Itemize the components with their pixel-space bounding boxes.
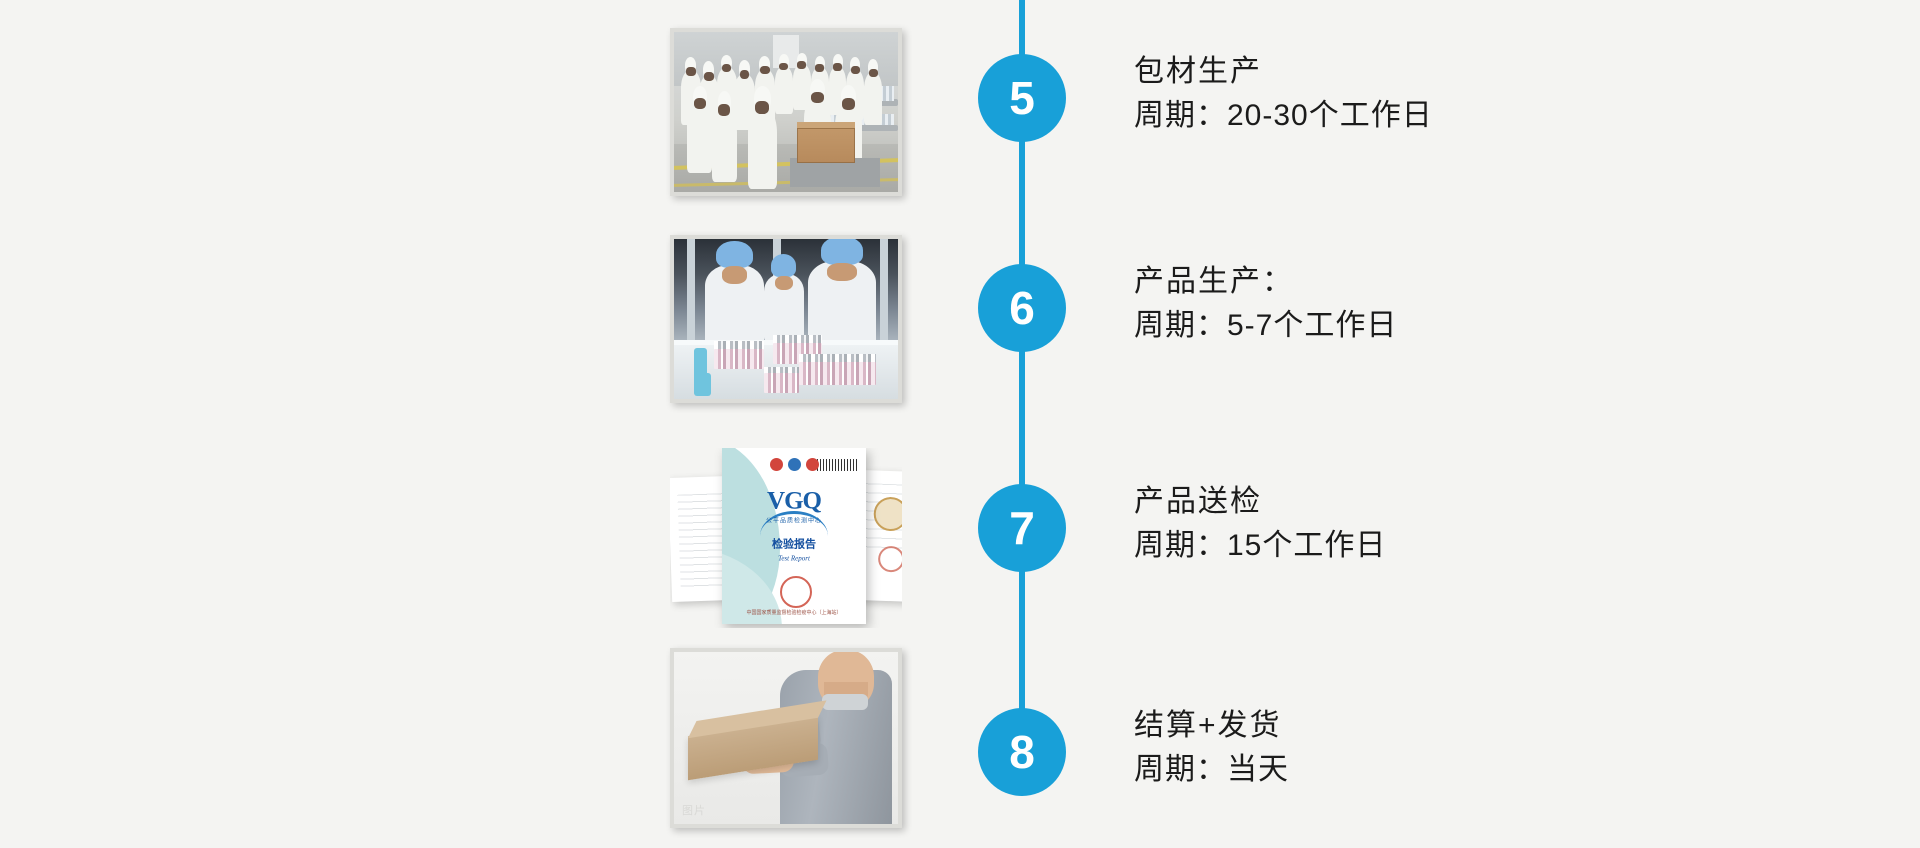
step-6-number-badge: 6 — [978, 264, 1066, 352]
report-title-en: Test Report — [722, 555, 866, 562]
step-5-image-packaging-production-line — [670, 28, 902, 196]
timeline-step-8: 图片 8 结算+发货 周期：当天 — [0, 636, 1920, 846]
image-watermark: 图片 — [682, 802, 706, 818]
step-5-duration: 周期：20-30个工作日 — [1134, 94, 1433, 138]
red-seal-stamp — [780, 576, 812, 608]
step-6-image-product-assembly-line — [670, 235, 902, 403]
step-8-duration: 周期：当天 — [1134, 748, 1289, 792]
delivery-person-illustration: 图片 — [674, 652, 898, 824]
step-7-number-badge: 7 — [978, 484, 1066, 572]
step-6-duration: 周期：5-7个工作日 — [1134, 304, 1397, 348]
report-cover: VGQ 公平品质检测中心 检验报告 Test Report 中国国家质量监督检验… — [722, 448, 866, 624]
step-7-duration: 周期：15个工作日 — [1134, 524, 1386, 568]
report-brand: VGQ — [722, 489, 866, 514]
step-6-title: 产品生产： — [1134, 260, 1397, 304]
report-footer: 中国国家质量监督检验检疫中心（上海站） — [722, 609, 866, 616]
step-8-title: 结算+发货 — [1134, 704, 1289, 748]
step-8-number-badge: 8 — [978, 708, 1066, 796]
step-8-text-block: 结算+发货 周期：当天 — [1134, 704, 1289, 793]
infographic-canvas: 5 包材生产 周期：20-30个工作日 — [0, 0, 1920, 848]
step-6-text-block: 产品生产： 周期：5-7个工作日 — [1134, 260, 1397, 349]
timeline-step-5: 5 包材生产 周期：20-30个工作日 — [0, 0, 1920, 210]
report-title-cn: 检验报告 — [722, 538, 866, 552]
barcode-icon — [817, 459, 857, 471]
timeline-step-6: 6 产品生产： 周期：5-7个工作日 — [0, 208, 1920, 418]
step-7-image-test-report-documents: VGQ 公平品质检测中心 检验报告 Test Report 中国国家质量监督检验… — [670, 448, 902, 628]
assembly-line-illustration — [674, 239, 898, 399]
step-7-title: 产品送检 — [1134, 480, 1386, 524]
report-brand-sub: 公平品质检测中心 — [722, 516, 866, 525]
step-5-text-block: 包材生产 周期：20-30个工作日 — [1134, 50, 1433, 139]
step-8-image-shipping-delivery: 图片 — [670, 648, 902, 828]
test-report-illustration: VGQ 公平品质检测中心 检验报告 Test Report 中国国家质量监督检验… — [670, 448, 902, 628]
factory-packing-illustration — [674, 32, 898, 192]
step-5-number-badge: 5 — [978, 54, 1066, 142]
timeline-step-7: VGQ 公平品质检测中心 检验报告 Test Report 中国国家质量监督检验… — [0, 420, 1920, 630]
certification-logos — [770, 458, 819, 471]
step-5-title: 包材生产 — [1134, 50, 1433, 94]
step-7-text-block: 产品送检 周期：15个工作日 — [1134, 480, 1386, 569]
